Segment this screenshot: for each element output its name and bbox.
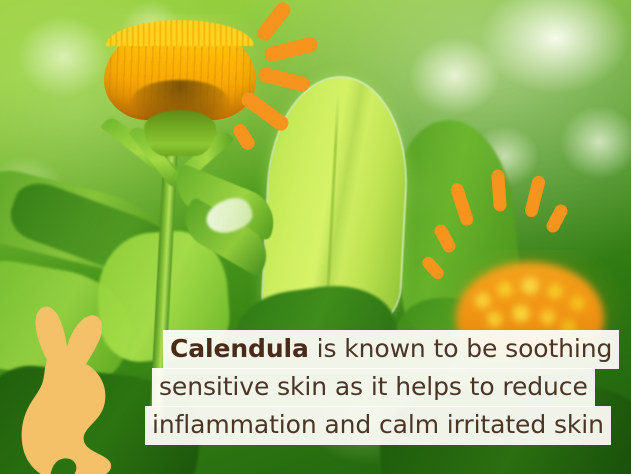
caption-line-1-rest: is known to be soothing xyxy=(309,334,612,363)
caption-line-1: Calendula is known to be soothing xyxy=(163,330,619,369)
caption-line-2: sensitive skin as it helps to reduce xyxy=(152,368,595,407)
promo-image: Calendula is known to be soothing sensit… xyxy=(0,0,631,474)
caption-keyword: Calendula xyxy=(170,334,309,363)
caption-line-3: inflammation and calm irritated skin xyxy=(145,406,611,445)
caption-block: Calendula is known to be soothing sensit… xyxy=(0,0,631,474)
